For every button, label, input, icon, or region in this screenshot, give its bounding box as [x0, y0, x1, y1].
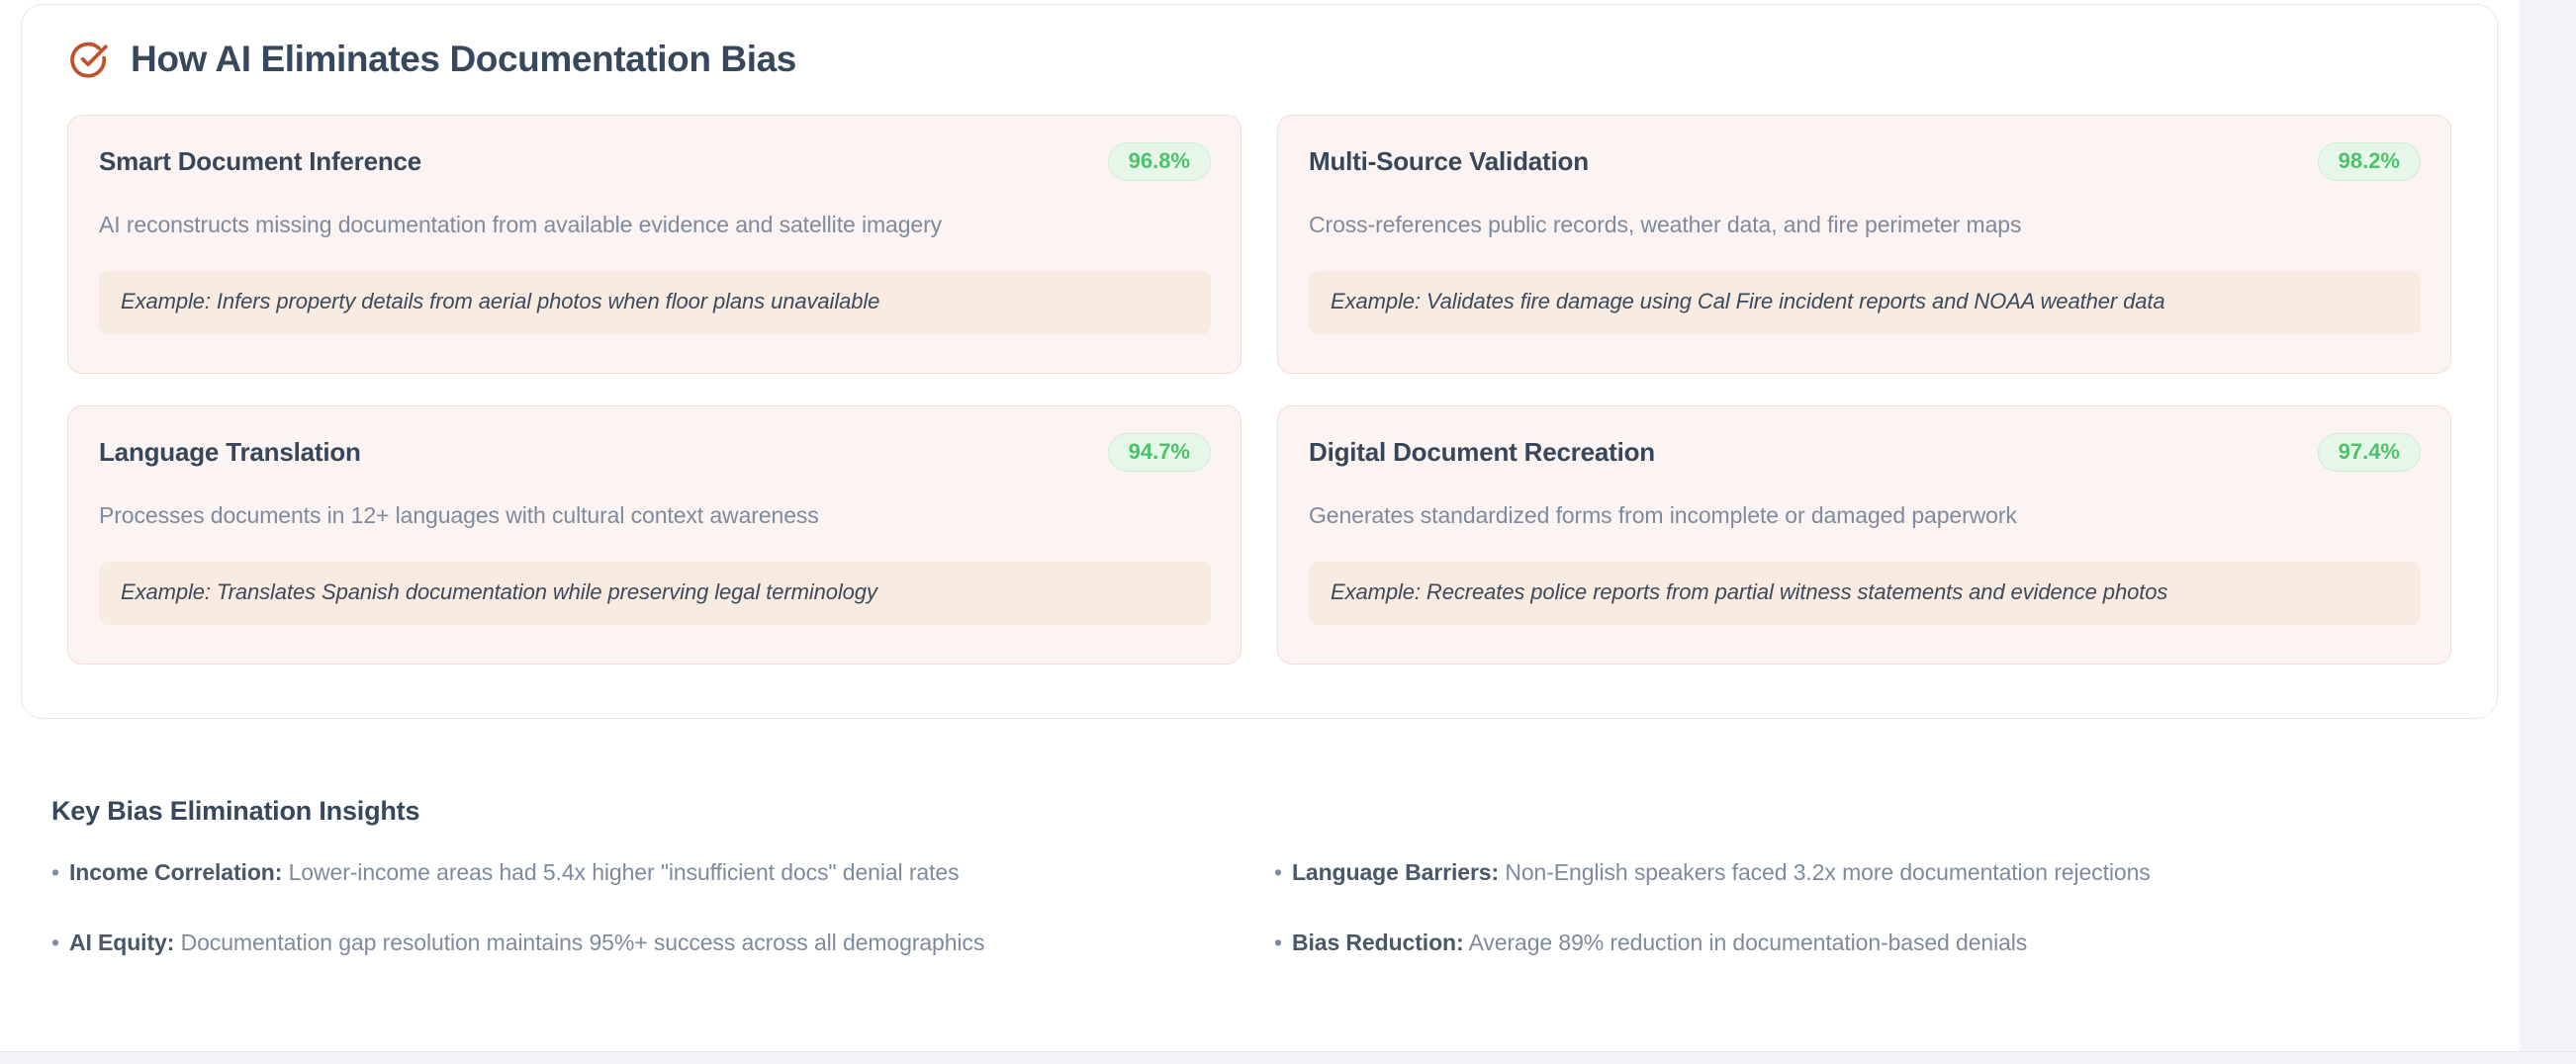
insight-label: AI Equity: [69, 930, 174, 955]
card-example: Example: Infers property details from ae… [99, 271, 1211, 334]
insight-body: Average 89% reduction in documentation-b… [1469, 930, 2028, 955]
bias-card-grid: Smart Document Inference 96.8% AI recons… [22, 81, 2497, 665]
card-header: Multi-Source Validation 98.2% [1309, 142, 2421, 181]
insight-label: Income Correlation: [69, 859, 282, 885]
insight-text: AI Equity: Documentation gap resolution … [69, 929, 984, 958]
bias-card-multi-source-validation[interactable]: Multi-Source Validation 98.2% Cross-refe… [1277, 115, 2451, 374]
card-header: Smart Document Inference 96.8% [99, 142, 1211, 181]
documentation-bias-panel: How AI Eliminates Documentation Bias Sma… [21, 4, 2498, 719]
bullet-icon: • [1274, 931, 1282, 954]
page-background-strip-right [2520, 0, 2576, 1051]
accuracy-badge: 94.7% [1108, 433, 1211, 472]
card-description: Processes documents in 12+ languages wit… [99, 500, 1211, 531]
card-title: Smart Document Inference [99, 146, 421, 177]
insight-text: Income Correlation: Lower-income areas h… [69, 858, 960, 888]
page-content: How AI Eliminates Documentation Bias Sma… [0, 0, 2520, 1051]
card-title: Language Translation [99, 437, 361, 468]
insights-grid: • Income Correlation: Lower-income areas… [51, 858, 2445, 958]
circle-check-icon [67, 37, 109, 81]
insight-text: Language Barriers: Non-English speakers … [1292, 858, 2151, 888]
card-example: Example: Translates Spanish documentatio… [99, 562, 1211, 625]
bias-card-language-translation[interactable]: Language Translation 94.7% Processes doc… [67, 405, 1242, 665]
card-header: Digital Document Recreation 97.4% [1309, 433, 2421, 472]
card-title: Digital Document Recreation [1309, 437, 1655, 468]
page-title: How AI Eliminates Documentation Bias [131, 41, 796, 77]
insight-item-bias-reduction: • Bias Reduction: Average 89% reduction … [1274, 929, 2445, 958]
card-example: Example: Recreates police reports from p… [1309, 562, 2421, 625]
insights-title: Key Bias Elimination Insights [51, 796, 2445, 827]
card-description: Cross-references public records, weather… [1309, 210, 2421, 240]
key-insights-section: Key Bias Elimination Insights • Income C… [51, 796, 2445, 958]
insight-item-ai-equity: • AI Equity: Documentation gap resolutio… [51, 929, 1223, 958]
insight-body: Non-English speakers faced 3.2x more doc… [1505, 859, 2150, 885]
panel-header: How AI Eliminates Documentation Bias [22, 5, 2497, 81]
accuracy-badge: 97.4% [2318, 433, 2421, 472]
bottom-background-strip [0, 1052, 2576, 1064]
card-title: Multi-Source Validation [1309, 146, 1589, 177]
insight-item-language-barriers: • Language Barriers: Non-English speaker… [1274, 858, 2445, 888]
insight-body: Lower-income areas had 5.4x higher "insu… [289, 859, 960, 885]
insight-label: Bias Reduction: [1292, 930, 1464, 955]
bullet-icon: • [1274, 861, 1282, 884]
card-description: AI reconstructs missing documentation fr… [99, 210, 1211, 240]
card-description: Generates standardized forms from incomp… [1309, 500, 2421, 531]
accuracy-badge: 96.8% [1108, 142, 1211, 181]
bullet-icon: • [51, 861, 59, 884]
bullet-icon: • [51, 931, 59, 954]
bias-card-smart-document-inference[interactable]: Smart Document Inference 96.8% AI recons… [67, 115, 1242, 374]
card-example: Example: Validates fire damage using Cal… [1309, 271, 2421, 334]
bias-card-digital-document-recreation[interactable]: Digital Document Recreation 97.4% Genera… [1277, 405, 2451, 665]
insight-label: Language Barriers: [1292, 859, 1499, 885]
insight-item-income-correlation: • Income Correlation: Lower-income areas… [51, 858, 1223, 888]
insight-text: Bias Reduction: Average 89% reduction in… [1292, 929, 2027, 958]
insight-body: Documentation gap resolution maintains 9… [181, 930, 985, 955]
accuracy-badge: 98.2% [2318, 142, 2421, 181]
card-header: Language Translation 94.7% [99, 433, 1211, 472]
